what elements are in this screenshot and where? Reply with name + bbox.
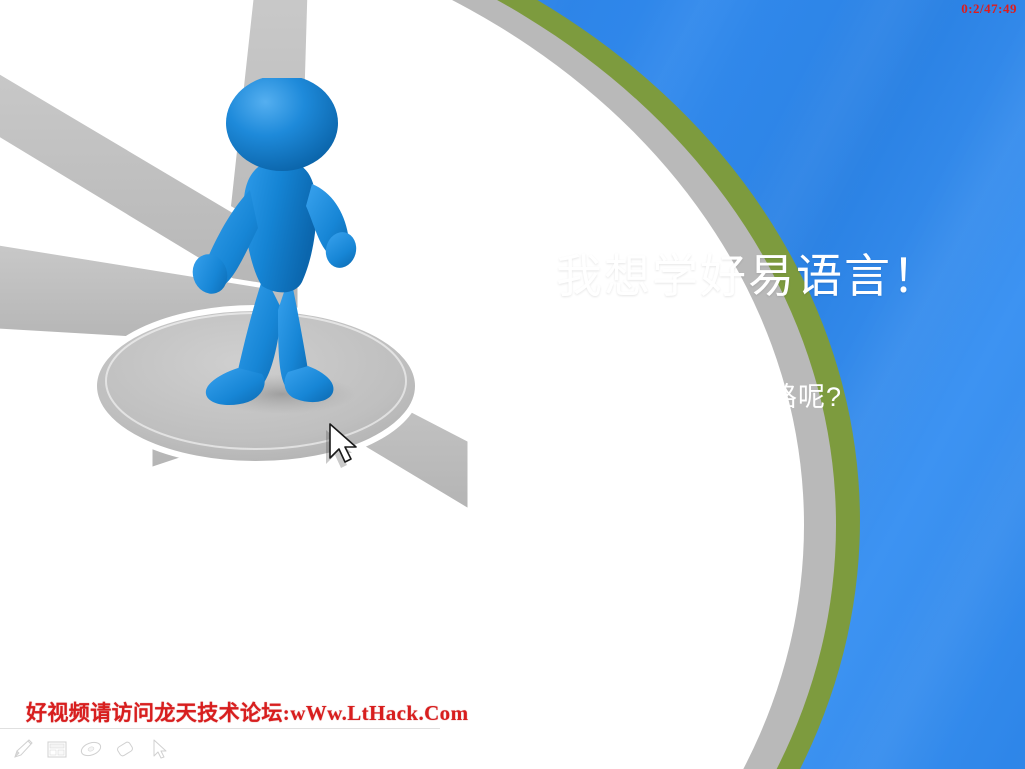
mouse-cursor [322,420,362,472]
highlighter-icon[interactable] [76,734,106,764]
promo-watermark: 好视频请访问龙天技术论坛:wWw.LtHack.Com [26,697,468,727]
slideshow-toolbar [0,729,1025,769]
presentation-slideshow: 我想学好易语言！ 该走哪条路呢? 龙天论坛 0:2/47:49 好视频请访问龙天… [0,0,1025,769]
slide-icon[interactable] [42,734,72,764]
slide-subtitle: 该走哪条路呢? [658,375,842,414]
forum-watermark: 龙天论坛 [447,371,575,415]
pointer-icon[interactable] [144,734,174,764]
slide-title: 我想学好易语言！ [556,249,940,303]
video-timestamp: 0:2/47:49 [961,1,1017,17]
blue-figure-illustration [186,78,376,418]
pen-icon[interactable] [8,734,38,764]
eraser-icon[interactable] [110,734,140,764]
